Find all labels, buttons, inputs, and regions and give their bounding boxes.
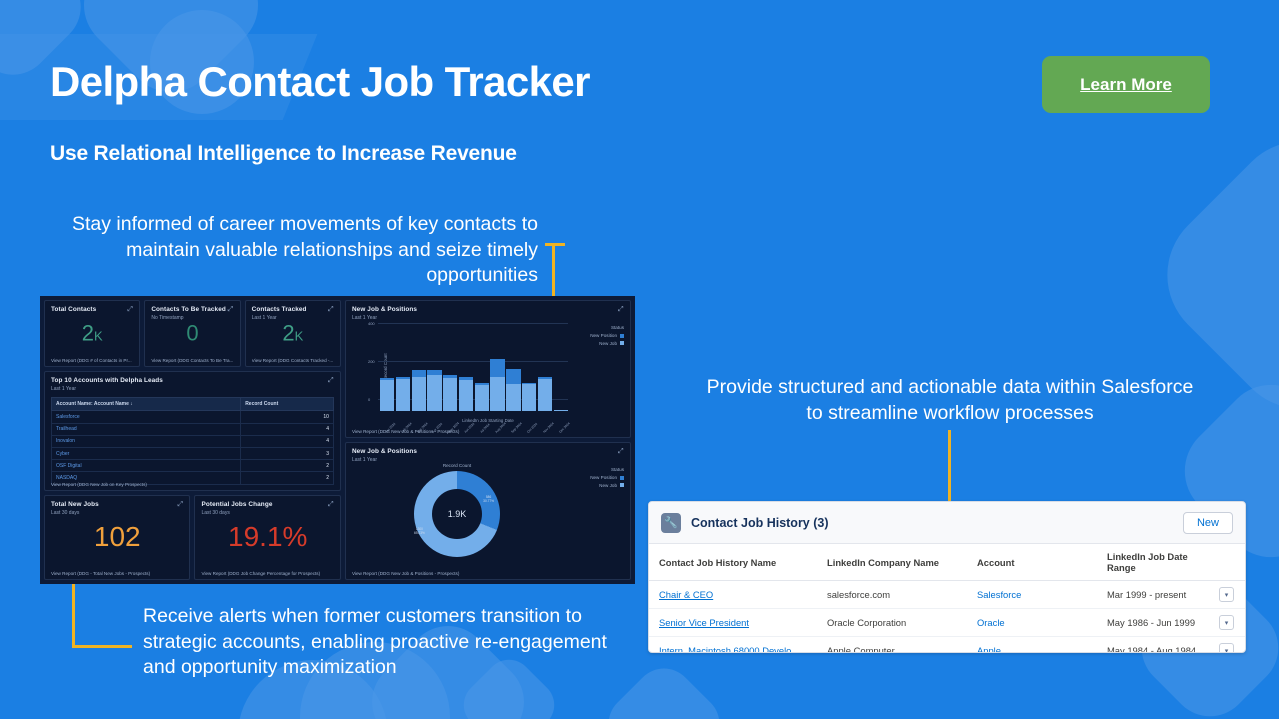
expand-icon[interactable]: ⤢: [618, 448, 625, 455]
x-axis-label: LinkedIn Job Starting Date: [346, 418, 630, 423]
kpi-view-report-link[interactable]: View Report (DDG Contacts To Be Tra...: [151, 358, 233, 363]
top-accounts-card: Top 10 Accounts with Delpha Leads Last 1…: [44, 371, 341, 490]
big-value: 102: [45, 521, 189, 553]
chart-title: New Job & Positions: [352, 448, 624, 455]
kpi-title: Contacts Tracked: [252, 306, 334, 313]
slide-root: Delpha Contact Job Tracker Use Relationa…: [0, 0, 1279, 719]
legend-swatch: [620, 334, 624, 338]
table-row[interactable]: Senior Vice President Oracle Corporation…: [649, 609, 1245, 637]
kpi-card-contacts-to-be-tracked[interactable]: Contacts To Be Tracked No Timestamp 0 ⤢ …: [144, 300, 240, 367]
legend-swatch: [620, 483, 624, 487]
legend-item[interactable]: New Job: [590, 341, 624, 346]
expand-icon[interactable]: ⤢: [328, 377, 335, 384]
learn-more-button[interactable]: Learn More: [1042, 56, 1210, 113]
column-header-actions: [1209, 544, 1245, 581]
callout-top-left: Stay informed of career movements of key…: [60, 212, 538, 289]
bar[interactable]: [396, 377, 410, 411]
cell-company: Oracle Corporation: [817, 609, 967, 637]
contact-job-history-body: Chair & CEO salesforce.com Salesforce Ma…: [649, 581, 1245, 654]
cell-job-name[interactable]: Chair & CEO: [649, 581, 817, 609]
table-row[interactable]: Salesforce10: [52, 411, 334, 423]
panel-header: 🔧 Contact Job History (3) New: [649, 502, 1245, 544]
y-tick: 0: [368, 397, 370, 402]
bar-segment-new-job: [459, 380, 473, 411]
expand-icon[interactable]: ⤢: [177, 501, 184, 508]
bar-chart-legend: Status New Position New Job: [590, 325, 624, 348]
table-header-row: Account Name: Account Name ↓ Record Coun…: [52, 398, 334, 411]
kpi-card-contacts-tracked[interactable]: Contacts Tracked Last 1 Year 2K ⤢ View R…: [245, 300, 341, 367]
cell-account[interactable]: Oracle: [967, 609, 1097, 637]
kpi-view-report-link[interactable]: View Report (DDG Contacts Tracked -...: [252, 358, 334, 363]
bar-segment-new-position: [412, 370, 426, 377]
big-card-total-new-jobs[interactable]: Total New Jobs Last 30 days 102 ⤢ View R…: [44, 495, 190, 580]
cell-count: 3: [241, 448, 334, 460]
new-button[interactable]: New: [1183, 512, 1233, 534]
bar-segment-new-job: [538, 379, 552, 411]
cell-job-name[interactable]: Senior Vice President: [649, 609, 817, 637]
kpi-title: Contacts To Be Tracked: [151, 306, 233, 313]
legend-title: Status: [590, 325, 624, 330]
y-tick: 400: [368, 321, 375, 326]
cell-count: 2: [241, 460, 334, 472]
kpi-row: Total Contacts 2K ⤢ View Report (DDG # o…: [44, 300, 341, 367]
chart-subtitle: Last 1 Year: [352, 315, 624, 321]
legend-item[interactable]: New Position: [590, 333, 624, 338]
kpi-title: Total Contacts: [51, 306, 133, 313]
column-header-account[interactable]: Account: [967, 544, 1097, 581]
bar-segment-new-job: [506, 384, 520, 411]
bar[interactable]: [538, 377, 552, 411]
bar[interactable]: [380, 378, 394, 411]
bar-segment-new-job: [522, 384, 536, 411]
donut-plot: Record Count 1.9K 58630.77% 130069.23%: [346, 463, 568, 563]
bar-segment-new-job: [396, 379, 410, 411]
cell-row-actions[interactable]: ▾: [1209, 609, 1245, 637]
bar-segment-new-position: [506, 369, 520, 384]
bar[interactable]: [443, 375, 457, 411]
accounts-table-body: Salesforce10 Trailhead4 Inovalon4 Cyber3…: [52, 411, 334, 484]
column-header-company[interactable]: LinkedIn Company Name: [817, 544, 967, 581]
big-title: Potential Jobs Change: [201, 501, 333, 508]
cell-account[interactable]: Salesforce: [967, 581, 1097, 609]
bar[interactable]: [490, 359, 504, 411]
legend-title: Status: [590, 467, 624, 472]
bar-segment-new-position: [490, 359, 504, 377]
bar[interactable]: [459, 377, 473, 411]
cell-account[interactable]: Inovalon: [52, 435, 241, 447]
cell-count: 10: [241, 411, 334, 423]
table-row[interactable]: OSF Digital2: [52, 460, 334, 472]
bar-chart-card: New Job & Positions Last 1 Year ⤢ Record…: [345, 300, 631, 438]
expand-icon[interactable]: ⤢: [228, 306, 235, 313]
column-header-record-count[interactable]: Record Count: [241, 398, 334, 411]
page-subtitle: Use Relational Intelligence to Increase …: [50, 142, 517, 166]
table-row[interactable]: Inovalon4: [52, 435, 334, 447]
bar-segment-new-job: [443, 378, 457, 411]
cell-date-range: May 1984 - Aug 1984: [1097, 637, 1209, 654]
cell-row-actions[interactable]: ▾: [1209, 637, 1245, 654]
donut-slice-label: 130069.23%: [414, 527, 425, 535]
column-header-name[interactable]: Contact Job History Name: [649, 544, 817, 581]
cell-account[interactable]: Salesforce: [52, 411, 241, 423]
donut-chart-legend: Status New Position New Job: [590, 467, 624, 490]
cell-row-actions[interactable]: ▾: [1209, 581, 1245, 609]
table-row[interactable]: Trailhead4: [52, 423, 334, 435]
legend-item[interactable]: New Position: [590, 475, 624, 480]
page-title: Delpha Contact Job Tracker: [50, 58, 590, 106]
big-title: Total New Jobs: [51, 501, 183, 508]
cell-account[interactable]: Apple: [967, 637, 1097, 654]
table-header-row: Contact Job History Name LinkedIn Compan…: [649, 544, 1245, 581]
cell-account[interactable]: Trailhead: [52, 423, 241, 435]
big-number-row: Total New Jobs Last 30 days 102 ⤢ View R…: [44, 495, 341, 580]
big-subtitle: Last 30 days: [51, 510, 183, 516]
big-view-report-link[interactable]: View Report (DDG - Total New Jobs - Pros…: [51, 571, 183, 576]
donut-series-label: Record Count: [346, 463, 568, 468]
table-view-report-link[interactable]: View Report (DDG New Job on Key Prospect…: [51, 482, 334, 487]
donut-center-label: 1.9K: [432, 489, 482, 539]
dashboard-left-column: Total Contacts 2K ⤢ View Report (DDG # o…: [44, 300, 341, 580]
bar-segment-new-job: [427, 375, 441, 411]
chevron-down-icon[interactable]: ▾: [1219, 615, 1234, 630]
cell-company: Apple Computer: [817, 637, 967, 654]
table-title: Top 10 Accounts with Delpha Leads: [51, 377, 334, 384]
legend-swatch: [620, 476, 624, 480]
cell-count: 4: [241, 435, 334, 447]
callout-bottom-left: Receive alerts when former customers tra…: [143, 604, 613, 681]
big-value: 19.1%: [195, 521, 339, 553]
donut-ring[interactable]: 1.9K 58630.77% 130069.23%: [414, 471, 500, 557]
chart-title: New Job & Positions: [352, 306, 624, 313]
kpi-value: 2K: [45, 320, 139, 346]
bar-segment-new-job: [412, 377, 426, 411]
column-header-date-range[interactable]: LinkedIn Job Date Range: [1097, 544, 1209, 581]
table-subtitle: Last 1 Year: [51, 386, 334, 392]
column-header-account-name[interactable]: Account Name: Account Name ↓: [52, 398, 241, 411]
leader-line-1-horizontal: [545, 243, 565, 246]
cell-account[interactable]: OSF Digital: [52, 460, 241, 472]
chevron-down-icon[interactable]: ▾: [1219, 587, 1234, 602]
delpha-dashboard: Total Contacts 2K ⤢ View Report (DDG # o…: [40, 296, 635, 584]
legend-swatch: [620, 341, 624, 345]
chart-view-report-link[interactable]: View Report (DDG New Job & Positions - P…: [352, 571, 624, 576]
expand-icon[interactable]: ⤢: [127, 306, 134, 313]
bar-segment-new-job: [475, 385, 489, 411]
big-subtitle: Last 30 days: [201, 510, 333, 516]
kpi-value: 2K: [246, 320, 340, 346]
expand-icon[interactable]: ⤢: [328, 306, 335, 313]
expand-icon[interactable]: ⤢: [328, 501, 335, 508]
bar-segment-new-job: [490, 377, 504, 411]
contact-job-history-table: Contact Job History Name LinkedIn Compan…: [649, 544, 1245, 653]
wrench-icon: 🔧: [661, 513, 681, 533]
bar[interactable]: [475, 383, 489, 411]
big-card-potential-jobs-change[interactable]: Potential Jobs Change Last 30 days 19.1%…: [194, 495, 340, 580]
bar-segment-new-job: [380, 380, 394, 411]
leader-line-3-horizontal: [72, 645, 132, 648]
big-view-report-link[interactable]: View Report (DDG Job Change Percentage f…: [201, 571, 333, 576]
cell-job-name[interactable]: Intern, Macintosh 68000 Develo...: [649, 637, 817, 654]
callout-right: Provide structured and actionable data w…: [700, 375, 1200, 426]
donut-chart-card: New Job & Positions Last 1 Year ⤢ Record…: [345, 442, 631, 580]
bar-chart-plot: Record Count 400 200 0 Jan 2024Feb 2024M…: [368, 323, 568, 411]
bar[interactable]: [554, 410, 568, 411]
cell-account[interactable]: Cyber: [52, 448, 241, 460]
contact-job-history-panel: 🔧 Contact Job History (3) New Contact Jo…: [648, 501, 1246, 653]
cell-company: salesforce.com: [817, 581, 967, 609]
bar[interactable]: [506, 369, 520, 411]
bar[interactable]: [522, 383, 536, 411]
bar-segment-new-job: [554, 410, 568, 411]
bar-series: [380, 323, 568, 411]
panel-title: Contact Job History (3): [691, 516, 829, 530]
bar[interactable]: [427, 370, 441, 411]
top-accounts-table: Account Name: Account Name ↓ Record Coun…: [51, 397, 334, 484]
y-tick: 200: [368, 359, 375, 364]
cell-date-range: May 1986 - Jun 1999: [1097, 609, 1209, 637]
bar[interactable]: [412, 370, 426, 411]
legend-item[interactable]: New Job: [590, 483, 624, 488]
table-row[interactable]: Intern, Macintosh 68000 Develo... Apple …: [649, 637, 1245, 654]
kpi-value: 0: [145, 320, 239, 346]
table-row[interactable]: Cyber3: [52, 448, 334, 460]
cell-date-range: Mar 1999 - present: [1097, 581, 1209, 609]
chevron-down-icon[interactable]: ▾: [1219, 643, 1234, 653]
donut-slice-label: 58630.77%: [483, 495, 494, 503]
dashboard-right-column: New Job & Positions Last 1 Year ⤢ Record…: [345, 300, 631, 580]
kpi-view-report-link[interactable]: View Report (DDG # of Contacts in Pr...: [51, 358, 133, 363]
cell-count: 4: [241, 423, 334, 435]
table-row[interactable]: Chair & CEO salesforce.com Salesforce Ma…: [649, 581, 1245, 609]
decorative-shape: [596, 656, 732, 719]
expand-icon[interactable]: ⤢: [618, 306, 625, 313]
chart-view-report-link[interactable]: View Report (DDG New Job & Positions - P…: [352, 429, 624, 434]
kpi-card-total-contacts[interactable]: Total Contacts 2K ⤢ View Report (DDG # o…: [44, 300, 140, 367]
